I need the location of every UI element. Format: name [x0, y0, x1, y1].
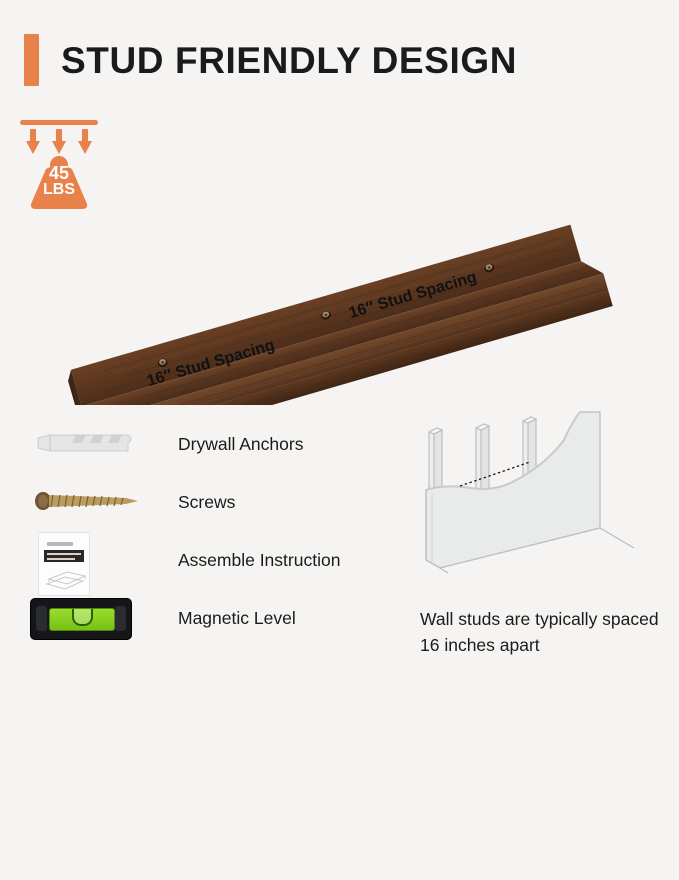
page-title: STUD FRIENDLY DESIGN: [61, 42, 517, 79]
accent-bar: [24, 34, 39, 86]
accessory-label: Screws: [178, 492, 235, 513]
magnetic-level-icon: [24, 590, 154, 646]
accessory-list: Drywall Anchors Sc: [24, 415, 384, 647]
wall-stud-svg: [404, 410, 674, 595]
list-item: Drywall Anchors: [24, 415, 384, 473]
list-item: Magnetic Level: [24, 589, 384, 647]
instruction-booklet-icon: [24, 532, 154, 588]
list-item: Assemble Instruction: [24, 531, 384, 589]
shelf-svg: [0, 105, 679, 405]
drywall-anchor-icon: [24, 416, 154, 472]
wall-diagram-caption: Wall studs are typically spaced 16 inche…: [420, 606, 670, 659]
accessory-label: Assemble Instruction: [178, 550, 340, 571]
shelf-illustration: 16″ Stud Spacing 16″ Stud Spacing: [0, 105, 679, 405]
list-item: Screws: [24, 473, 384, 531]
accessory-label: Magnetic Level: [178, 608, 296, 629]
accessory-label: Drywall Anchors: [178, 434, 303, 455]
page-header: STUD FRIENDLY DESIGN: [24, 34, 517, 86]
wall-stud-diagram: 16″: [404, 410, 674, 595]
screw-icon: [24, 474, 154, 530]
infographic-canvas: STUD FRIENDLY DESIGN: [0, 0, 679, 679]
